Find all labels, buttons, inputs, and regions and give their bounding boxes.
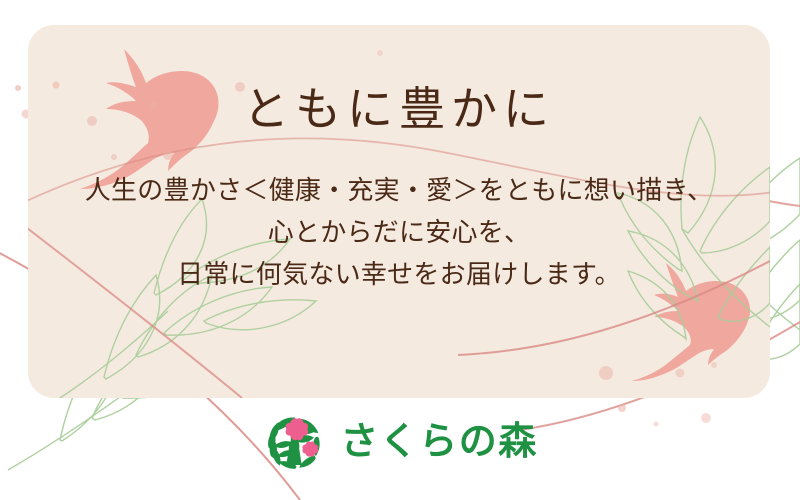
- body-line-3: 日常に何気ない幸せをお届けします。: [85, 253, 713, 295]
- card-content: ともに豊かに 人生の豊かさ＜健康・充実・愛＞をともに想い描き、 心とからだに安心…: [28, 25, 770, 398]
- body-line-1: 人生の豊かさ＜健康・充実・愛＞をともに想い描き、: [85, 169, 713, 211]
- promo-banner: ともに豊かに 人生の豊かさ＜健康・充実・愛＞をともに想い描き、 心とからだに安心…: [0, 0, 800, 500]
- body-line-2: 心とからだに安心を、: [85, 211, 713, 253]
- body-copy: 人生の豊かさ＜健康・充実・愛＞をともに想い描き、 心とからだに安心を、 日常に何…: [85, 169, 713, 295]
- sakura-tree-circle-logo-icon: [262, 410, 326, 474]
- page-title: ともに豊かに: [243, 87, 555, 133]
- brand-logo: さくらの森: [0, 410, 800, 474]
- brand-wordmark: さくらの森: [340, 423, 538, 461]
